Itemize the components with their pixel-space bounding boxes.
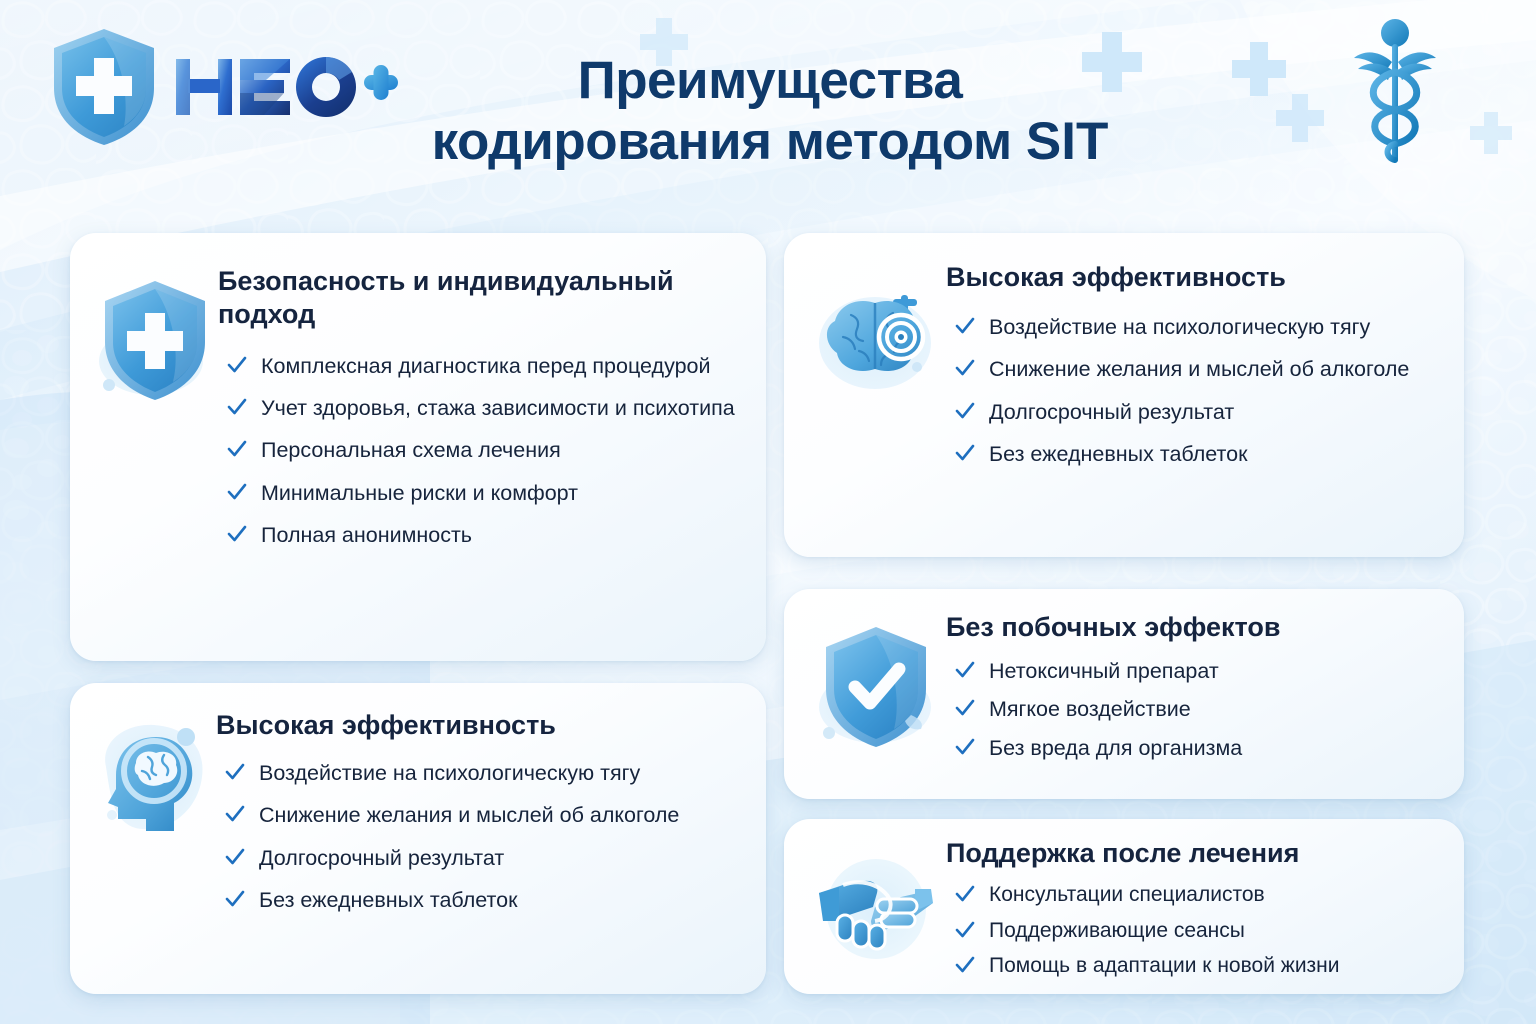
list-item-label: Минимальные риски и комфорт	[261, 481, 578, 505]
list-item-label: Помощь в адаптации к новой жизни	[989, 954, 1340, 977]
card-icon-wrap	[806, 611, 946, 785]
list-item: Воздействие на психологическую тягу	[224, 760, 740, 787]
card-icon-wrap	[92, 259, 218, 641]
card-high-efficiency-left: Высокая эффективность Воздействие на пси…	[70, 683, 766, 994]
page-header: Преимущества кодирования методом SIT	[0, 0, 1536, 210]
check-icon	[954, 736, 976, 758]
caduceus-icon	[1352, 14, 1438, 174]
check-icon	[226, 354, 248, 376]
list-item-label: Нетоксичный препарат	[989, 659, 1219, 683]
list-item-label: Мягкое воздействие	[989, 697, 1191, 721]
check-icon	[224, 803, 246, 825]
list-item: Консультации специалистов	[954, 882, 1446, 909]
list-item-label: Долгосрочный результат	[989, 400, 1234, 424]
list-item: Поддерживающие сеансы	[954, 918, 1446, 945]
list-item: Снижение желания и мыслей об алкоголе	[954, 356, 1442, 383]
check-icon	[224, 846, 246, 868]
list-item: Без ежедневных таблеток	[954, 441, 1442, 468]
list-item: Без ежедневных таблеток	[224, 887, 740, 914]
card-body: Высокая эффективность Воздействие на пси…	[946, 259, 1442, 539]
check-icon	[224, 888, 246, 910]
benefit-list: Комплексная диагностика перед процедурой…	[218, 353, 736, 549]
card-body: Безопасность и индивидуальный подход Ком…	[218, 259, 736, 641]
check-icon	[226, 523, 248, 545]
list-item: Воздействие на психологическую тягу	[954, 314, 1442, 341]
card-icon-wrap	[806, 259, 946, 539]
list-item: Нетоксичный препарат	[954, 658, 1442, 685]
check-icon	[954, 697, 976, 719]
check-icon	[226, 481, 248, 503]
card-body: Высокая эффективность Воздействие на пси…	[216, 707, 740, 976]
list-item-label: Полная анонимность	[261, 523, 472, 547]
check-icon	[224, 761, 246, 783]
list-item: Снижение желания и мыслей об алкоголе	[224, 802, 740, 829]
card-title: Без побочных эффектов	[946, 611, 1442, 644]
card-body: Без побочных эффектов Нетоксичный препар…	[946, 611, 1442, 785]
card-title: Высокая эффективность	[946, 261, 1442, 294]
list-item-label: Без ежедневных таблеток	[259, 888, 518, 912]
list-item: Полная анонимность	[226, 522, 736, 549]
benefit-list: Нетоксичный препарат Мягкое воздействие …	[946, 658, 1442, 762]
check-icon	[954, 400, 976, 422]
card-support-after-treatment: Поддержка после лечения Консультации спе…	[784, 819, 1464, 994]
card-high-efficiency-right: Высокая эффективность Воздействие на пси…	[784, 233, 1464, 557]
page-title: Преимущества кодирования методом SIT	[300, 50, 1240, 173]
check-icon	[226, 438, 248, 460]
shield-cross-icon	[96, 273, 214, 405]
list-item-label: Снижение желания и мыслей об алкоголе	[989, 357, 1409, 381]
list-item: Долгосрочный результат	[224, 845, 740, 872]
card-title: Высокая эффективность	[216, 709, 740, 742]
list-item: Долгосрочный результат	[954, 399, 1442, 426]
list-item: Комплексная диагностика перед процедурой	[226, 353, 736, 380]
card-body: Поддержка после лечения Консультации спе…	[946, 837, 1446, 982]
brain-target-icon	[813, 281, 939, 397]
list-item: Учет здоровья, стажа зависимости и психо…	[226, 395, 736, 422]
list-item-label: Комплексная диагностика перед процедурой	[261, 354, 711, 378]
check-icon	[954, 315, 976, 337]
page-title-method: SIT	[1026, 112, 1108, 171]
benefit-list: Воздействие на психологическую тягу Сниж…	[946, 314, 1442, 468]
page-title-line2-prefix: кодирования методом	[432, 112, 1026, 171]
list-item-label: Без ежедневных таблеток	[989, 442, 1248, 466]
check-icon	[954, 954, 976, 976]
check-icon	[954, 442, 976, 464]
list-item-label: Консультации специалистов	[989, 883, 1265, 906]
handshake-icon	[815, 849, 937, 969]
list-item-label: Персональная схема лечения	[261, 438, 561, 462]
check-icon	[954, 883, 976, 905]
list-item-label: Без вреда для организма	[989, 736, 1242, 760]
list-item-label: Учет здоровья, стажа зависимости и психо…	[261, 396, 735, 420]
benefit-list: Воздействие на психологическую тягу Сниж…	[216, 760, 740, 914]
list-item-label: Поддерживающие сеансы	[989, 919, 1245, 942]
list-item-label: Воздействие на психологическую тягу	[259, 761, 640, 785]
list-item: Помощь в адаптации к новой жизни	[954, 953, 1446, 980]
card-icon-wrap	[90, 707, 216, 976]
page-title-line2: кодирования методом SIT	[300, 111, 1240, 172]
list-item-label: Долгосрочный результат	[259, 846, 504, 870]
card-title: Поддержка после лечения	[946, 837, 1446, 870]
check-icon	[954, 919, 976, 941]
list-item: Мягкое воздействие	[954, 696, 1442, 723]
check-icon	[226, 396, 248, 418]
head-brain-icon	[94, 719, 212, 841]
check-icon	[954, 357, 976, 379]
list-item: Без вреда для организма	[954, 735, 1442, 762]
card-safety: Безопасность и индивидуальный подход Ком…	[70, 233, 766, 661]
list-item: Минимальные риски и комфорт	[226, 480, 736, 507]
list-item-label: Воздействие на психологическую тягу	[989, 315, 1370, 339]
page-title-line1: Преимущества	[300, 50, 1240, 111]
card-no-side-effects: Без побочных эффектов Нетоксичный препар…	[784, 589, 1464, 799]
shield-check-icon	[815, 619, 937, 755]
check-icon	[954, 659, 976, 681]
shield-cross-icon	[48, 26, 160, 148]
benefit-list: Консультации специалистов Поддерживающие…	[946, 882, 1446, 980]
list-item: Персональная схема лечения	[226, 437, 736, 464]
list-item-label: Снижение желания и мыслей об алкоголе	[259, 803, 679, 827]
card-icon-wrap	[806, 837, 946, 982]
card-title: Безопасность и индивидуальный подход	[218, 265, 736, 331]
